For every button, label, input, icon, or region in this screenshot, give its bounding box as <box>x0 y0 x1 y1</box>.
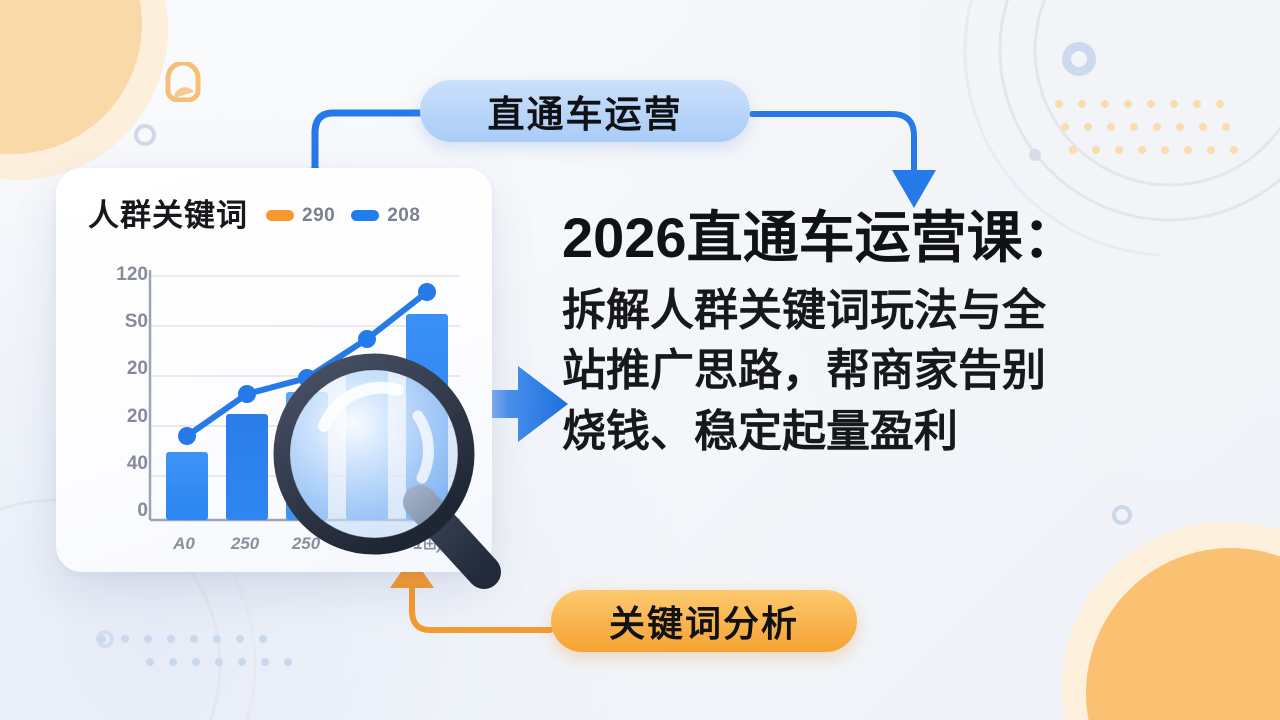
legend-item-bar[interactable]: 208 <box>351 205 420 227</box>
chart-y-axis-labels: 120 S0 20 20 40 0 <box>90 264 148 522</box>
dot-row <box>1055 100 1238 108</box>
poster-subline-3: 烧钱、稳定起量盈利 <box>562 403 1252 461</box>
y-tick-label: S0 <box>125 311 148 333</box>
dot-row <box>1061 123 1238 131</box>
poster-headline: 2026直通车运营课： <box>562 206 1252 270</box>
chart-card-header: 人群关键词 290 208 <box>56 168 492 235</box>
y-tick-label: 20 <box>127 406 148 428</box>
y-tick-label: 40 <box>127 453 148 475</box>
poster-text-block: 2026直通车运营课： 拆解人群关键词玩法与全 站推广思路，帮商家告别 烧钱、稳… <box>562 206 1252 461</box>
chart-legend: 290 208 <box>266 205 420 227</box>
x-tick-label: A0 <box>156 534 212 554</box>
orange-dot-grid <box>1055 100 1238 169</box>
legend-swatch-orange <box>266 210 294 221</box>
dot-row <box>1069 146 1238 154</box>
badge-bottom-label: 关键词分析 <box>609 595 799 647</box>
chart-title: 人群关键词 <box>88 190 248 235</box>
gray-ring-decoration <box>134 124 156 146</box>
dot-row <box>98 635 292 643</box>
legend-label-blue: 208 <box>387 205 420 227</box>
badge-top-label: 直通车运营 <box>488 84 683 138</box>
orange-abstract-mark-icon <box>162 62 204 102</box>
dot-row <box>146 658 292 666</box>
poster-subline-1: 拆解人群关键词玩法与全 <box>562 282 1252 340</box>
legend-swatch-blue <box>351 210 379 221</box>
legend-item-line[interactable]: 290 <box>266 205 335 227</box>
badge-bottom-keyword-analysis[interactable]: 关键词分析 <box>551 590 857 652</box>
y-tick-label: 20 <box>127 358 148 380</box>
badge-top-zhitongche[interactable]: 直通车运营 <box>420 80 750 142</box>
blue-dot-grid <box>98 635 292 681</box>
legend-label-orange: 290 <box>302 205 335 227</box>
y-tick-label: 0 <box>137 500 148 522</box>
y-tick-label: 120 <box>116 264 148 286</box>
magnifier-icon <box>270 350 530 600</box>
x-tick-label: 250 <box>217 534 273 554</box>
poster-subline-2: 站推广思路，帮商家告别 <box>562 342 1252 400</box>
blue-ring-decoration-right <box>1112 505 1132 525</box>
connector-blue-right-arrow <box>742 92 972 222</box>
